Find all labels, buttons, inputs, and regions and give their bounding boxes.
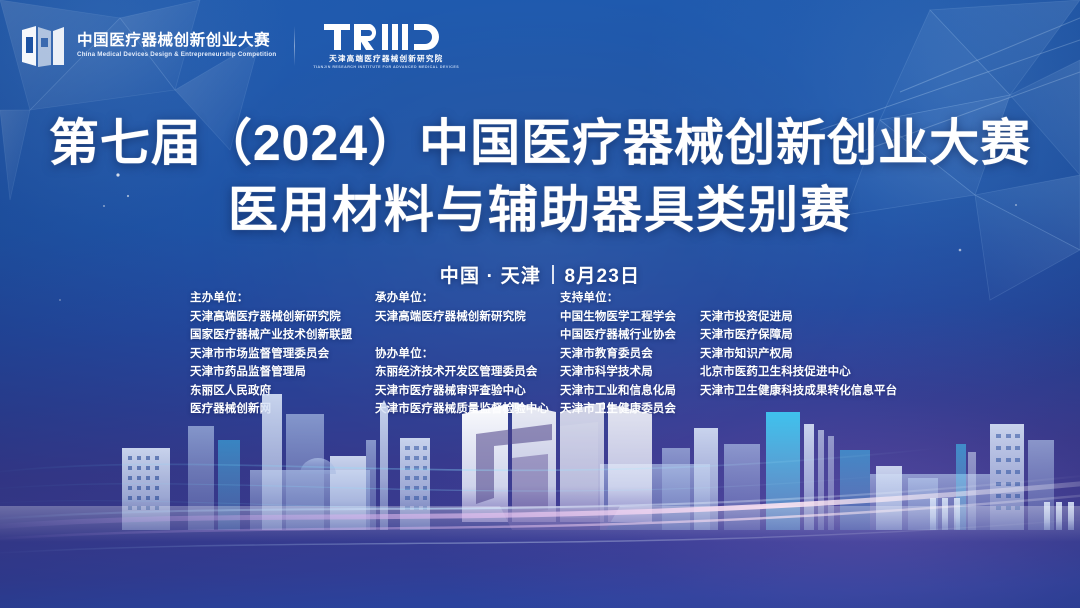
sub-title: 医用材料与辅助器具类别赛 (0, 181, 1080, 240)
organizer-item: 中国医疗器械行业协会 (560, 326, 700, 345)
event-location: 中国 · 天津 (440, 261, 541, 288)
event-date: 8月23日 (565, 261, 641, 288)
event-meta: 中国 · 天津 8月23日 (0, 261, 1080, 288)
organizer-heading: 主办单位： (190, 289, 375, 308)
organizer-heading: 协办单位： (375, 345, 560, 364)
organizer-group: 承办单位： 天津高端医疗器械创新研究院 (375, 289, 560, 326)
header-logo-bar: 中国医疗器械创新创业大赛 China Medical Devices Desig… (20, 22, 459, 69)
main-title: 第七届（2024）中国医疗器械创新创业大赛 (0, 114, 1080, 173)
logo-divider (294, 26, 295, 66)
institute-logo: 天津高端医疗器械创新研究院 TIANJIN RESEARCH INSTITUTE… (313, 22, 459, 69)
organizer-item: 中国生物医学工程学会 (560, 308, 700, 327)
competition-logo: 中国医疗器械创新创业大赛 China Medical Devices Desig… (20, 24, 276, 68)
organizer-item: 天津市教育委员会 (560, 345, 700, 364)
organizer-item: 天津高端医疗器械创新研究院 (375, 308, 560, 327)
organizer-item: 天津市投资促进局 (700, 308, 910, 327)
meta-divider (552, 265, 554, 284)
organizer-item: 天津市知识产权局 (700, 345, 910, 364)
organizer-heading: 承办单位： (375, 289, 560, 308)
institute-name-en: TIANJIN RESEARCH INSTITUTE FOR ADVANCED … (313, 66, 459, 70)
triid-wordmark-icon (324, 22, 448, 52)
door-mark-icon (20, 24, 66, 68)
organizer-item: 天津高端医疗器械创新研究院 (190, 308, 375, 327)
organizer-heading: 支持单位： (560, 289, 700, 308)
competition-name-en: China Medical Devices Design & Entrepren… (77, 52, 276, 59)
organizer-item: 天津市医疗保障局 (700, 326, 910, 345)
institute-name-cn: 天津高端医疗器械创新研究院 (329, 55, 443, 63)
competition-name-cn: 中国医疗器械创新创业大赛 (77, 33, 276, 49)
organizer-item: 国家医疗器械产业技术创新联盟 (190, 326, 375, 345)
poster-canvas: 中国医疗器械创新创业大赛 China Medical Devices Desig… (0, 0, 1080, 608)
organizer-item: 天津市市场监督管理委员会 (190, 345, 375, 364)
tianjin-skyline-illustration (0, 378, 1080, 608)
title-block: 第七届（2024）中国医疗器械创新创业大赛 医用材料与辅助器具类别赛 中国 · … (0, 114, 1080, 288)
